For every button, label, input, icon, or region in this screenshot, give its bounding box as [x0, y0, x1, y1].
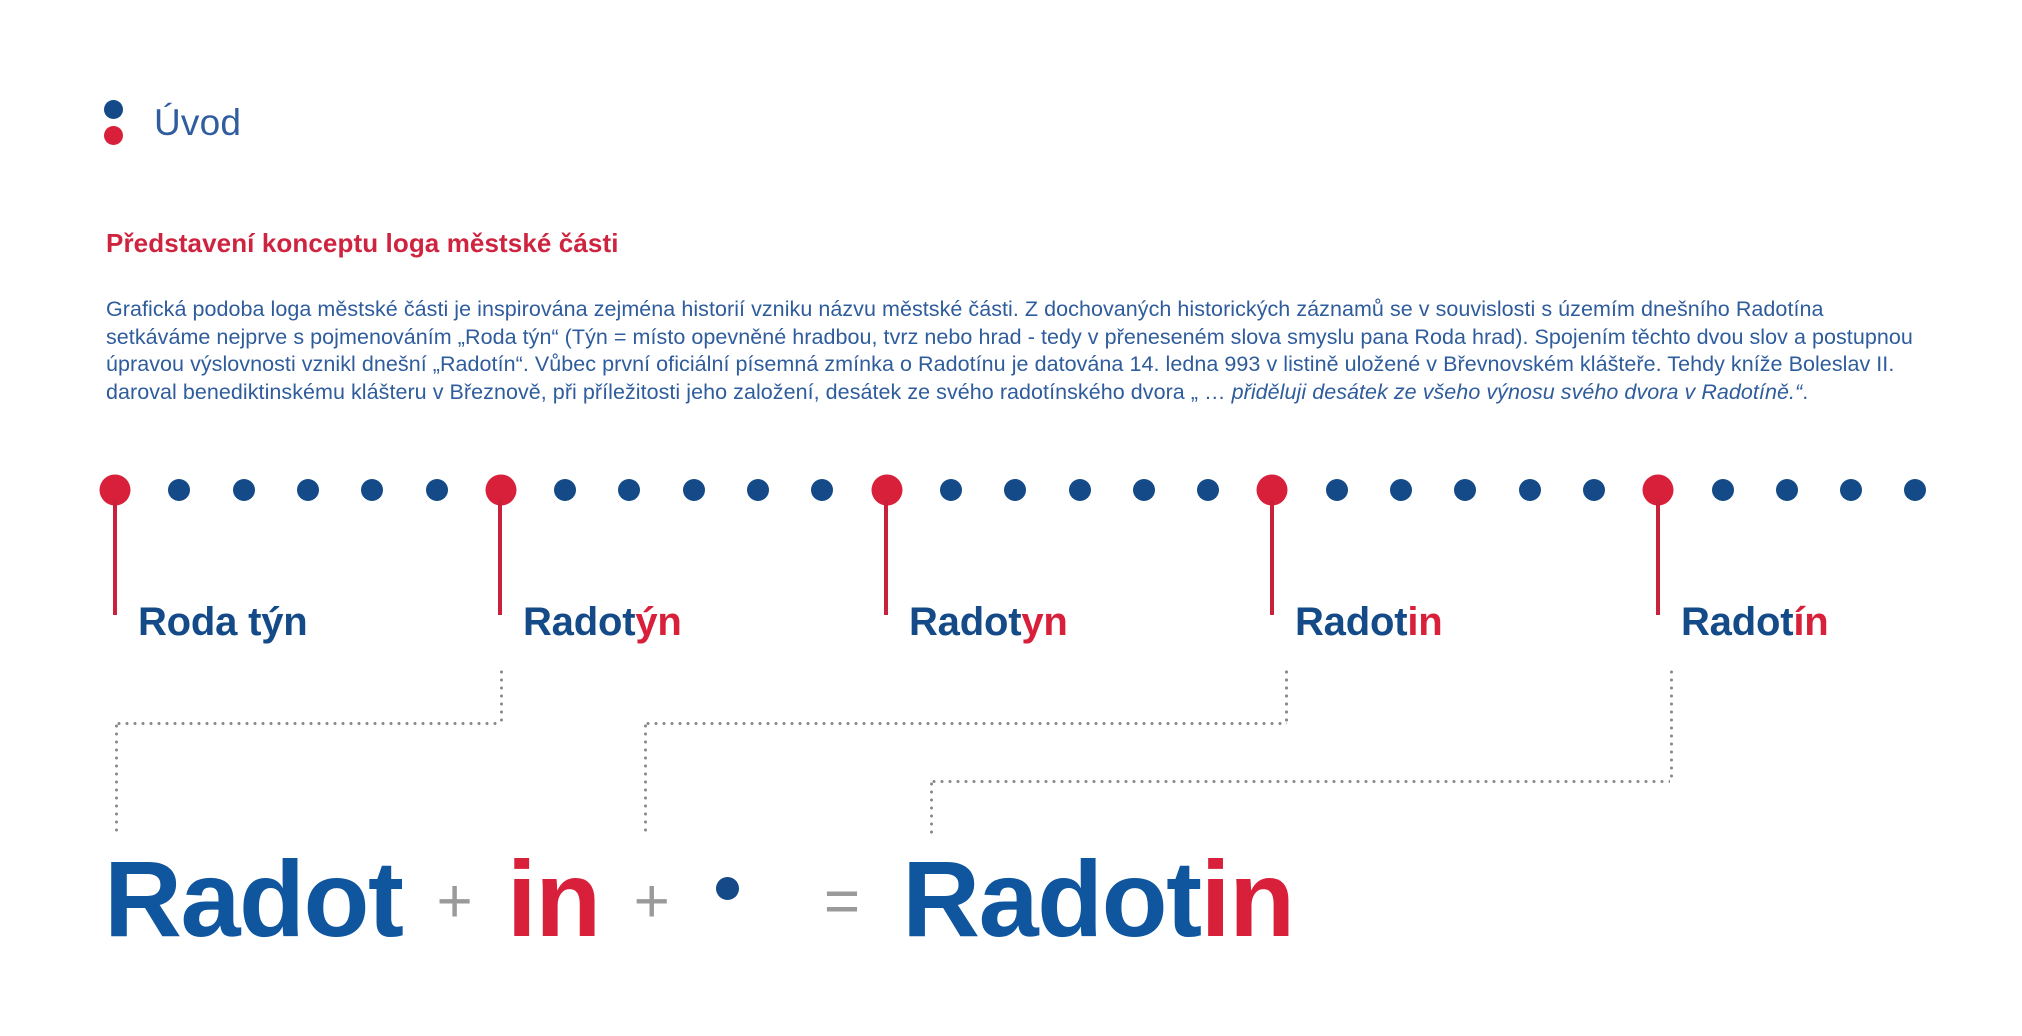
- timeline-label-2: Radotyn: [909, 600, 1068, 645]
- connector-vertical-b: [115, 722, 118, 832]
- timeline-label-1: Radotýn: [523, 600, 682, 645]
- timeline-label-plain: Radot: [909, 600, 1021, 644]
- timeline-tick-dot: [1133, 479, 1155, 501]
- timeline-marker-dot: [485, 475, 516, 506]
- timeline-tick-dot: [618, 479, 640, 501]
- timeline-tick-dot: [1197, 479, 1219, 501]
- header-blue-dot-icon: [104, 100, 123, 119]
- timeline-label-4: Radotín: [1681, 600, 1828, 645]
- page-header: Úvod: [104, 100, 241, 145]
- formula-result-plain: Radot: [902, 838, 1200, 959]
- page-title: Úvod: [154, 104, 241, 141]
- timeline-label-0: Roda týn: [138, 600, 308, 645]
- formula-operator-equals: =: [824, 871, 860, 933]
- connector-vertical-d: [644, 722, 647, 832]
- timeline-tick-dot: [297, 479, 319, 501]
- formula-result: Radotin: [902, 845, 1293, 953]
- connector-vertical-a: [500, 668, 503, 722]
- timeline-marker-stem: [498, 500, 502, 615]
- formula-tittle-dot-slot: [704, 935, 770, 936]
- timeline-tick-dot: [1069, 479, 1091, 501]
- timeline-marker-stem: [1656, 500, 1660, 615]
- timeline-label-highlight: yn: [1021, 600, 1067, 644]
- formula-operator-plus-1: +: [436, 871, 472, 933]
- timeline-label-highlight: ýn: [635, 600, 681, 644]
- connector-vertical-f: [930, 780, 933, 838]
- timeline-label-plain: Radot: [1681, 600, 1793, 644]
- timeline-tick-dot: [683, 479, 705, 501]
- timeline-tick-dot: [554, 479, 576, 501]
- timeline-marker-dot: [871, 475, 902, 506]
- timeline-tick-dot: [233, 479, 255, 501]
- connector-horizontal-b: [644, 722, 1287, 725]
- header-dot-group: [104, 100, 123, 145]
- timeline-tick-dot: [1583, 479, 1605, 501]
- connector-vertical-c: [1285, 668, 1288, 722]
- timeline-marker-dot: [1257, 475, 1288, 506]
- header-red-dot-icon: [104, 126, 123, 145]
- timeline-tick-dot: [1519, 479, 1541, 501]
- timeline-marker-stem: [1270, 500, 1274, 615]
- timeline-tick-dot: [1776, 479, 1798, 501]
- timeline-marker-stem: [113, 500, 117, 615]
- timeline-label-3: Radotin: [1295, 600, 1442, 645]
- timeline-marker-dot: [100, 475, 131, 506]
- timeline-tick-dot: [1454, 479, 1476, 501]
- tittle-dot-icon: [716, 877, 739, 900]
- connector-vertical-g: [1670, 668, 1673, 780]
- timeline-label-highlight: in: [1407, 600, 1442, 644]
- timeline-tick-dot: [1390, 479, 1412, 501]
- timeline-tick-dot: [940, 479, 962, 501]
- timeline-marker-stem: [884, 500, 888, 615]
- section-heading: Představení konceptu loga městské části: [106, 228, 619, 259]
- timeline-tick-dot: [1326, 479, 1348, 501]
- timeline-tick-dot: [361, 479, 383, 501]
- formula-term-radot: Radot: [104, 845, 402, 953]
- timeline-tick-dot: [1004, 479, 1026, 501]
- timeline-tick-dot: [1840, 479, 1862, 501]
- intro-paragraph: Grafická podoba loga městské části je in…: [106, 296, 1918, 406]
- timeline-tick-dot: [426, 479, 448, 501]
- connector-vertical-e: [1285, 668, 1288, 722]
- timeline-tick-dot: [747, 479, 769, 501]
- logo-formula: Radot + in + = Radotin: [104, 845, 1294, 975]
- timeline-tick-dot: [1904, 479, 1926, 501]
- paragraph-tail: .: [1802, 380, 1808, 404]
- timeline-tick-dot: [811, 479, 833, 501]
- timeline-label-plain: Radot: [1295, 600, 1407, 644]
- formula-term-in: in: [507, 845, 600, 953]
- timeline-marker-dot: [1643, 475, 1674, 506]
- timeline-tick-dot: [1712, 479, 1734, 501]
- formula-result-highlight: in: [1201, 838, 1294, 959]
- paragraph-quote-italic: přiděluji desátek ze všeho výnosu svého …: [1232, 380, 1803, 404]
- connector-horizontal-c: [930, 780, 1670, 783]
- timeline-tick-dot: [168, 479, 190, 501]
- formula-operator-plus-2: +: [634, 871, 670, 933]
- timeline-label-plain: Radot: [523, 600, 635, 644]
- timeline-label-plain: Roda týn: [138, 600, 308, 644]
- connector-horizontal-a: [115, 722, 501, 725]
- timeline-label-highlight: ín: [1793, 600, 1828, 644]
